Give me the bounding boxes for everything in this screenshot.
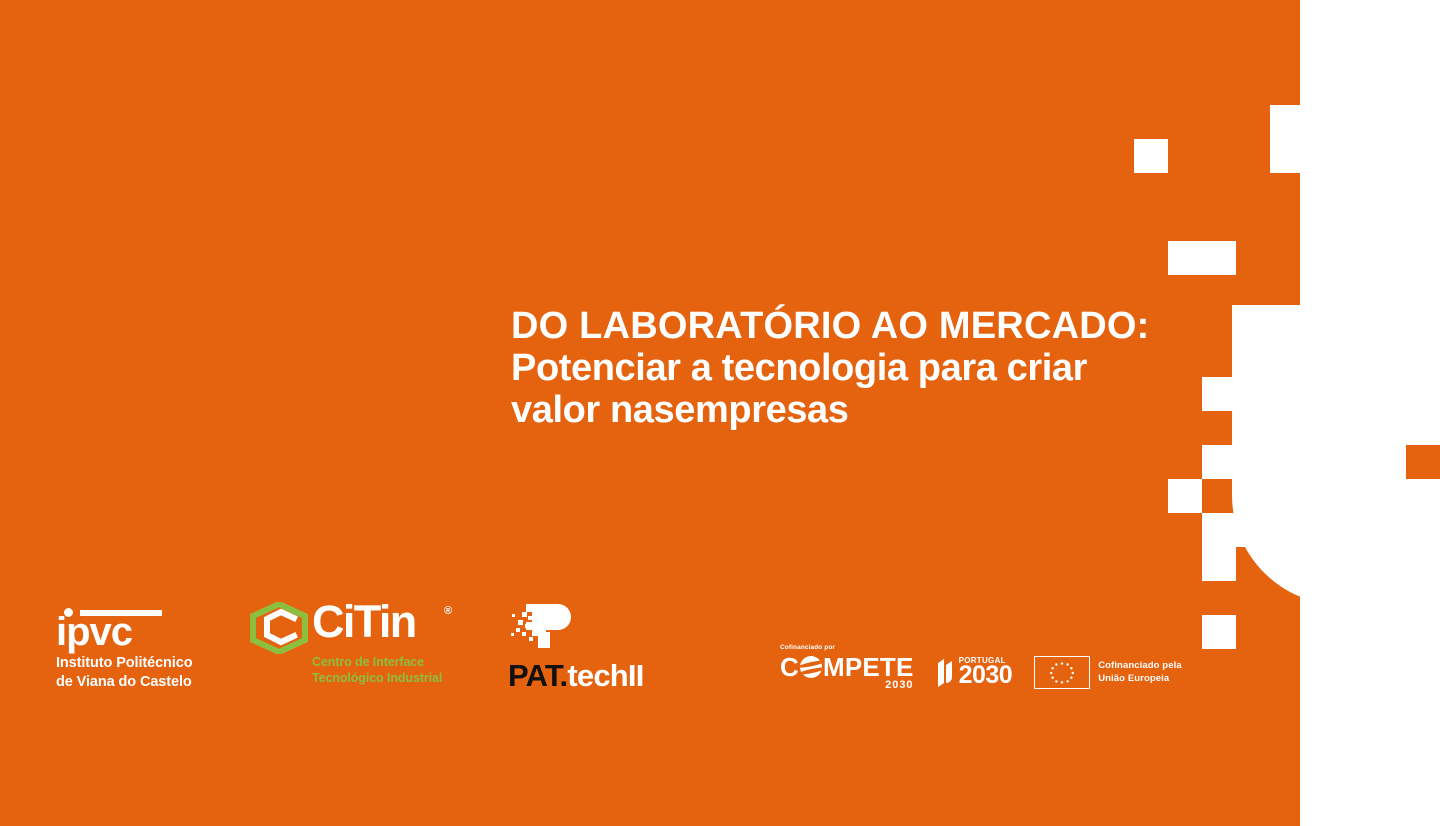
mosaic-cell-orange (1406, 445, 1440, 479)
mosaic-curved-corner (1232, 305, 1342, 605)
mosaic-cell-white (1236, 343, 1270, 377)
citin-subtitle-line-2: Tecnológico Industrial (312, 670, 463, 686)
ipvc-mark: ipvc (56, 598, 216, 650)
portugal-flag-icon (936, 657, 956, 689)
citin-wordmark: CiTin (312, 599, 416, 644)
portugal-year: 2030 (959, 663, 1013, 688)
logo-citin: CiTin ® Centro de Interface Tecnológico … (248, 600, 463, 687)
mosaic-cell-white (1168, 241, 1236, 275)
compete-wordmark: CMPETE (780, 654, 914, 680)
headline-eyebrow: DO LABORATÓRIO AO MERCADO: (511, 305, 1191, 347)
mosaic-cell-white (1168, 479, 1202, 513)
headline-line-2: Potenciar a tecnologia para criar (511, 347, 1191, 389)
pat-pixel-p-icon (508, 602, 588, 652)
logo-ipvc: ipvc Instituto Politécnico de Viana do C… (56, 598, 231, 691)
mosaic-cell-white (1202, 513, 1270, 547)
mosaic-cell-white (1372, 411, 1440, 513)
funding-logo-row: CMPETE 2030 PORTUGAL 2030 (780, 654, 1182, 691)
citin-subtitle: Centro de Interface Tecnológico Industri… (312, 654, 463, 687)
compete-word-before: C (780, 654, 799, 680)
ipvc-name-line-1: Instituto Politécnico (56, 654, 231, 673)
mosaic-cell-white (1202, 445, 1236, 479)
eu-funding-text: Cofinanciado pela União Europeia (1098, 660, 1182, 686)
eu-text-line-1: Cofinanciado pela (1098, 660, 1182, 673)
mosaic-cell-white (1270, 411, 1338, 445)
pat-word-dark: PAT. (508, 658, 567, 693)
globe-icon (800, 656, 822, 678)
pat-wordmark: PAT.techII (508, 660, 693, 691)
pat-word-light: techII (567, 658, 643, 693)
funding-logos: Cofinanciado por CMPETE 2030 PORTUGAL 20… (780, 644, 1182, 691)
mosaic-cell-white (1338, 513, 1372, 547)
logo-pat-tech: PAT.techII (508, 602, 693, 691)
citin-hexagon-icon (248, 602, 310, 654)
promotional-banner: DO LABORATÓRIO AO MERCADO: Potenciar a t… (0, 0, 1440, 826)
logo-european-union: Cofinanciado pela União Europeia (1034, 656, 1182, 689)
eu-text-line-2: União Europeia (1098, 673, 1182, 686)
citin-registered-mark: ® (444, 605, 452, 617)
mosaic-cell-white (1270, 445, 1304, 479)
logo-compete-2030: CMPETE 2030 (780, 654, 914, 691)
mosaic-cell-white (1338, 343, 1372, 445)
mosaic-cell-white (1372, 105, 1440, 377)
cofinanced-by-label: Cofinanciado por (780, 644, 1182, 651)
citin-top-row: CiTin ® (248, 600, 463, 656)
mosaic-cell-white (1134, 139, 1168, 173)
mosaic-cell-white (1202, 547, 1236, 581)
mosaic-cell-white (1270, 105, 1304, 173)
eu-flag-icon (1034, 656, 1090, 689)
logo-portugal-2030: PORTUGAL 2030 (936, 657, 1013, 689)
ipvc-name-line-2: de Viana do Castelo (56, 673, 231, 692)
logo-row: ipvc Instituto Politécnico de Viana do C… (0, 592, 1440, 712)
mosaic-cell-white (1236, 479, 1270, 513)
mosaic-cell-white (1236, 411, 1270, 445)
mosaic-cell-white (1202, 377, 1304, 411)
mosaic-cell-white (1304, 479, 1338, 513)
headline-line-3: valor nasempresas (511, 389, 1191, 431)
citin-subtitle-line-1: Centro de Interface (312, 654, 463, 670)
portugal-2030-text: PORTUGAL 2030 (959, 657, 1013, 688)
compete-word-after: MPETE (823, 654, 914, 680)
headline-block: DO LABORATÓRIO AO MERCADO: Potenciar a t… (511, 305, 1191, 431)
ipvc-full-name: Instituto Politécnico de Viana do Castel… (56, 654, 231, 691)
ipvc-wordmark: ipvc (56, 612, 132, 652)
